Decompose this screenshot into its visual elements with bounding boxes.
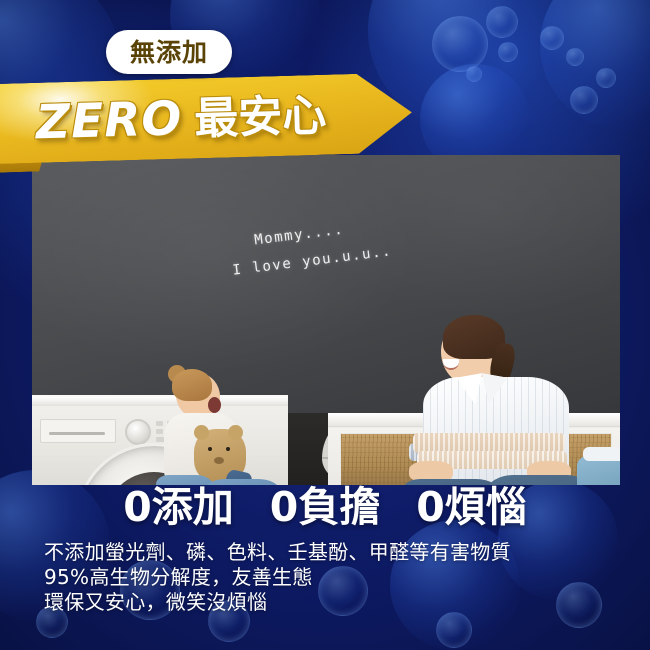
bubble-icon [486, 6, 518, 38]
zero-claims-headline: 0添加 0負擔 0煩惱 [0, 487, 650, 528]
girl-hair [172, 369, 212, 401]
banner-text-group: ZERO 最安心 [35, 91, 327, 146]
teddy-bear-ear [228, 425, 243, 440]
bubble-icon [570, 86, 598, 114]
bubble-icon [498, 42, 518, 62]
bubble-icon [556, 582, 602, 628]
description-line: 95%高生物分解度，友善生態 [44, 565, 511, 590]
description-line: 不添加螢光劑、磷、色料、壬基酚、甲醛等有害物質 [44, 540, 511, 565]
zero-claim-item: 0添加 [123, 487, 234, 528]
zero-claim-item: 0煩惱 [416, 487, 527, 528]
white-laundry-item [583, 447, 620, 461]
no-additives-badge: 無添加 [106, 30, 232, 74]
teddy-bear-snout [214, 457, 224, 464]
program-dial [125, 419, 151, 445]
bubble-icon [566, 48, 584, 66]
teddy-bear-eye [208, 447, 212, 451]
folded-towel [413, 433, 565, 453]
girl-open-mouth [208, 397, 221, 413]
lifestyle-photo: Mommy.... I love you.u.u.. [32, 155, 620, 485]
bubble-icon [596, 68, 616, 88]
product-promo-poster: 無添加 ZERO 最安心 Mommy.... I love you.u.u.. [0, 0, 650, 650]
banner-headline-cn: 最安心 [194, 94, 327, 142]
zero-claim-item: 0負擔 [270, 487, 381, 528]
banner-headline-en: ZERO [35, 95, 183, 146]
bubble-icon [540, 0, 650, 130]
zero-arrow-banner: ZERO 最安心 [0, 72, 413, 164]
product-description: 不添加螢光劑、磷、色料、壬基酚、甲醛等有害物質 95%高生物分解度，友善生態 環… [44, 540, 511, 615]
bubble-icon [432, 16, 488, 72]
detergent-drawer [40, 419, 116, 443]
no-additives-badge-label: 無添加 [130, 40, 208, 65]
girl-figure [150, 367, 310, 485]
teddy-bear-ear [194, 425, 209, 440]
bubble-icon [436, 612, 472, 648]
bubble-icon [466, 66, 482, 82]
bubble-icon [540, 26, 564, 50]
teddy-bear-eye [226, 447, 230, 451]
woman-figure [417, 315, 620, 485]
description-line: 環保又安心，微笑沒煩惱 [44, 590, 511, 615]
